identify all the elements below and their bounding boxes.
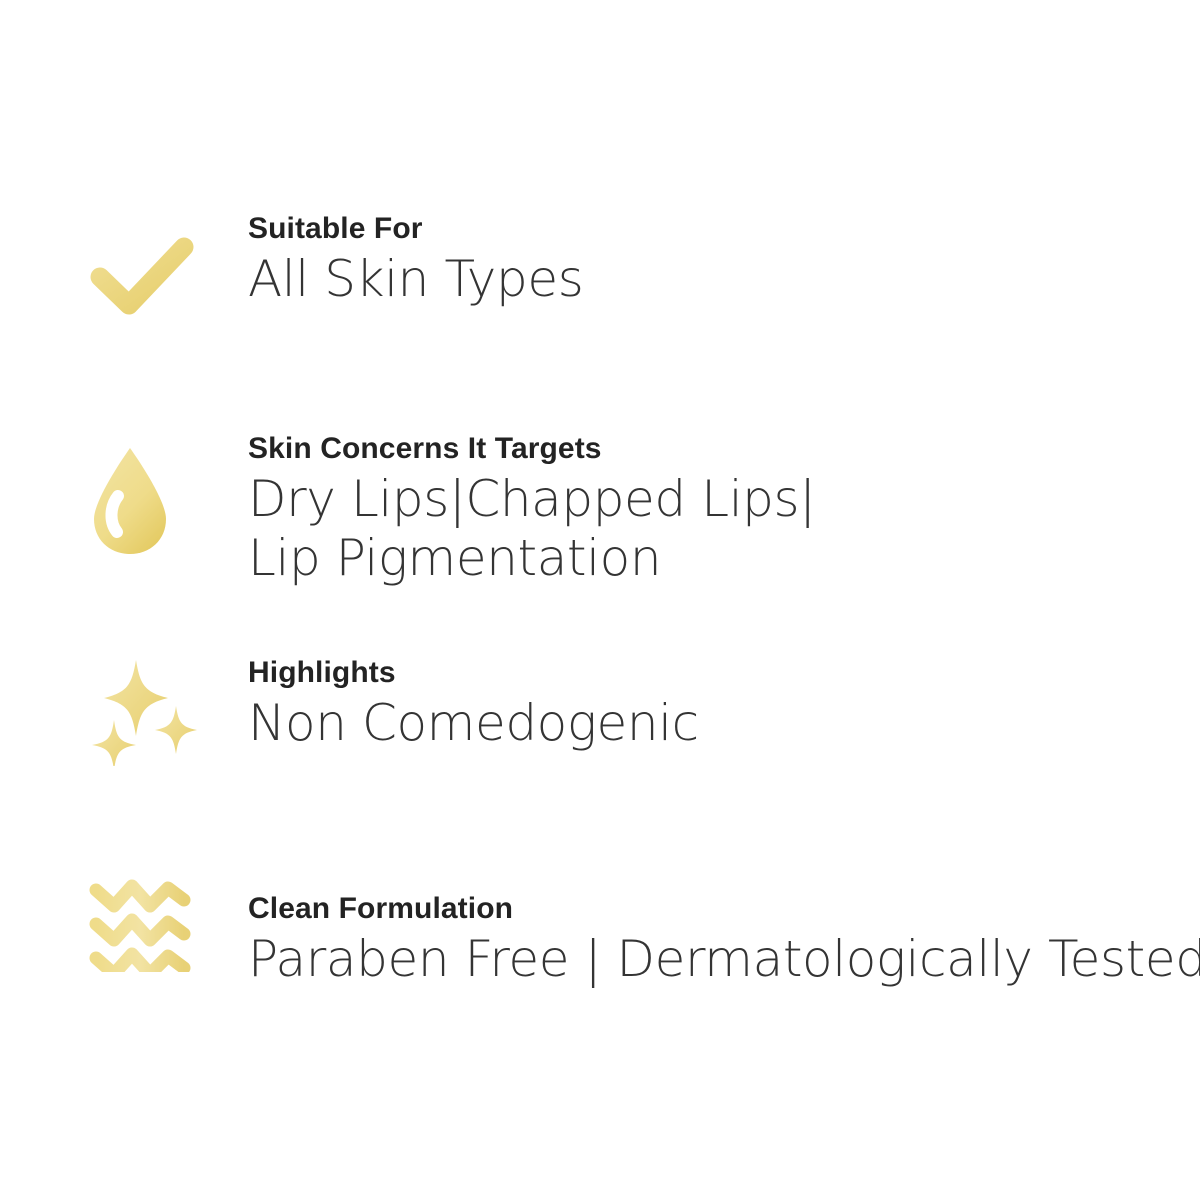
sparkles-icon (88, 654, 200, 766)
feature-value: Dry Lips|Chapped Lips| Lip Pigmentation (248, 470, 1180, 588)
feature-value-line: Dry Lips|Chapped Lips| (248, 470, 1180, 529)
product-feature-panel: Suitable For All Skin Types (0, 0, 1200, 1200)
feature-title: Clean Formulation (248, 892, 1200, 926)
feature-value-line: All Skin Types (248, 250, 1180, 309)
feature-row-clean-formulation: Clean Formulation Paraben Free | Dermato… (0, 872, 1200, 994)
feature-icon-cell (0, 652, 248, 774)
feature-row-highlights: Highlights Non Comedogenic (0, 652, 1200, 774)
feature-text-cell: Skin Concerns It Targets Dry Lips|Chappe… (248, 432, 1200, 588)
checkmark-icon (88, 229, 196, 329)
feature-value-line: Non Comedogenic (248, 694, 1180, 753)
feature-text-cell: Suitable For All Skin Types (248, 212, 1200, 309)
feature-title: Highlights (248, 656, 1180, 690)
feature-icon-cell (0, 212, 248, 332)
feature-text-cell: Highlights Non Comedogenic (248, 652, 1200, 753)
feature-icon-cell (0, 872, 248, 994)
feature-row-skin-concerns: Skin Concerns It Targets Dry Lips|Chappe… (0, 432, 1200, 588)
feature-icon-cell (0, 432, 248, 582)
feature-value-line: Paraben Free | Dermatologically Tested (248, 930, 1200, 989)
waves-icon (88, 876, 192, 972)
feature-value: Paraben Free | Dermatologically Tested (248, 930, 1200, 989)
feature-value: All Skin Types (248, 250, 1180, 309)
feature-text-cell: Clean Formulation Paraben Free | Dermato… (248, 872, 1200, 989)
droplet-icon (88, 444, 172, 558)
feature-value-line: Lip Pigmentation (248, 529, 1180, 588)
feature-value: Non Comedogenic (248, 694, 1180, 753)
feature-title: Skin Concerns It Targets (248, 432, 1180, 466)
feature-title: Suitable For (248, 212, 1180, 246)
feature-row-suitable-for: Suitable For All Skin Types (0, 212, 1200, 332)
